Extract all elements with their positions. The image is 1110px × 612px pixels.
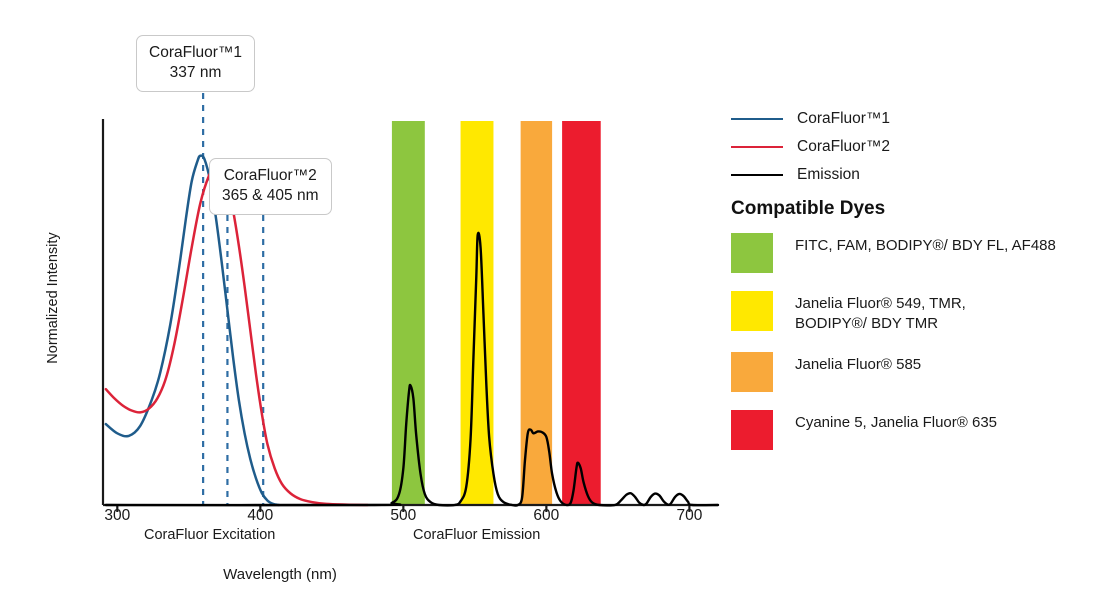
x-tick-label-400: 400 xyxy=(230,507,290,525)
region-label-emission: CoraFluor Emission xyxy=(413,527,540,543)
legend-row-1: CoraFluor™2 xyxy=(731,133,1091,161)
chart-root: CoraFluor™1 337 nm CoraFluor™2 365 & 405… xyxy=(0,0,1110,612)
region-label-excitation: CoraFluor Excitation xyxy=(144,527,275,543)
x-tick-label-600: 600 xyxy=(516,507,576,525)
legend-label: CoraFluor™1 xyxy=(797,110,890,128)
x-tick-label-300: 300 xyxy=(87,507,147,525)
dye-row-3: Cyanine 5, Janelia Fluor® 635 xyxy=(731,410,1101,450)
compatible-dyes-heading: Compatible Dyes xyxy=(731,198,885,220)
dye-color-swatch xyxy=(731,233,773,273)
excitation-marker-lines xyxy=(203,93,263,505)
dye-label: Janelia Fluor® 549, TMR,BODIPY®/ BDY TMR xyxy=(795,291,966,334)
dye-row-0: FITC, FAM, BODIPY®/ BDY FL, AF488 xyxy=(731,233,1101,273)
dye-color-swatch xyxy=(731,291,773,331)
dye-color-swatch xyxy=(731,352,773,392)
callout-cf1-value: 337 nm xyxy=(149,63,242,83)
red-band xyxy=(562,121,601,505)
dye-label-line: Janelia Fluor® 585 xyxy=(795,355,921,375)
x-tick-label-500: 500 xyxy=(373,507,433,525)
callout-corafluor-1: CoraFluor™1 337 nm xyxy=(136,35,255,92)
dye-label-line: Janelia Fluor® 549, TMR, xyxy=(795,294,966,314)
emission-bands xyxy=(392,121,601,505)
dye-row-2: Janelia Fluor® 585 xyxy=(731,352,1101,392)
dye-color-swatch xyxy=(731,410,773,450)
dye-label: Janelia Fluor® 585 xyxy=(795,352,921,375)
callout-cf2-title: CoraFluor™2 xyxy=(222,166,319,186)
dye-label: FITC, FAM, BODIPY®/ BDY FL, AF488 xyxy=(795,233,1056,256)
legend-row-0: CoraFluor™1 xyxy=(731,105,1091,133)
legend-line-swatch xyxy=(731,118,783,120)
green-band xyxy=(392,121,425,505)
dye-label-line: BODIPY®/ BDY TMR xyxy=(795,314,966,334)
yellow-band xyxy=(461,121,494,505)
dye-label: Cyanine 5, Janelia Fluor® 635 xyxy=(795,410,997,433)
dye-row-1: Janelia Fluor® 549, TMR,BODIPY®/ BDY TMR xyxy=(731,291,1101,334)
compatible-dyes-list: FITC, FAM, BODIPY®/ BDY FL, AF488Janelia… xyxy=(731,233,1101,468)
series-legend: CoraFluor™1CoraFluor™2Emission xyxy=(731,105,1091,189)
dye-label-line: FITC, FAM, BODIPY®/ BDY FL, AF488 xyxy=(795,236,1056,256)
legend-label: Emission xyxy=(797,166,860,184)
x-tick-label-700: 700 xyxy=(659,507,719,525)
y-axis-title: Normalized Intensity xyxy=(45,203,61,393)
callout-cf2-value: 365 & 405 nm xyxy=(222,186,319,206)
callout-cf1-title: CoraFluor™1 xyxy=(149,43,242,63)
legend-row-2: Emission xyxy=(731,161,1091,189)
legend-label: CoraFluor™2 xyxy=(797,138,890,156)
curve-corafluor2 xyxy=(106,165,368,505)
x-axis-title: Wavelength (nm) xyxy=(0,566,560,583)
legend-line-swatch xyxy=(731,174,783,176)
callout-corafluor-2: CoraFluor™2 365 & 405 nm xyxy=(209,158,332,215)
legend-line-swatch xyxy=(731,146,783,148)
dye-label-line: Cyanine 5, Janelia Fluor® 635 xyxy=(795,413,997,433)
